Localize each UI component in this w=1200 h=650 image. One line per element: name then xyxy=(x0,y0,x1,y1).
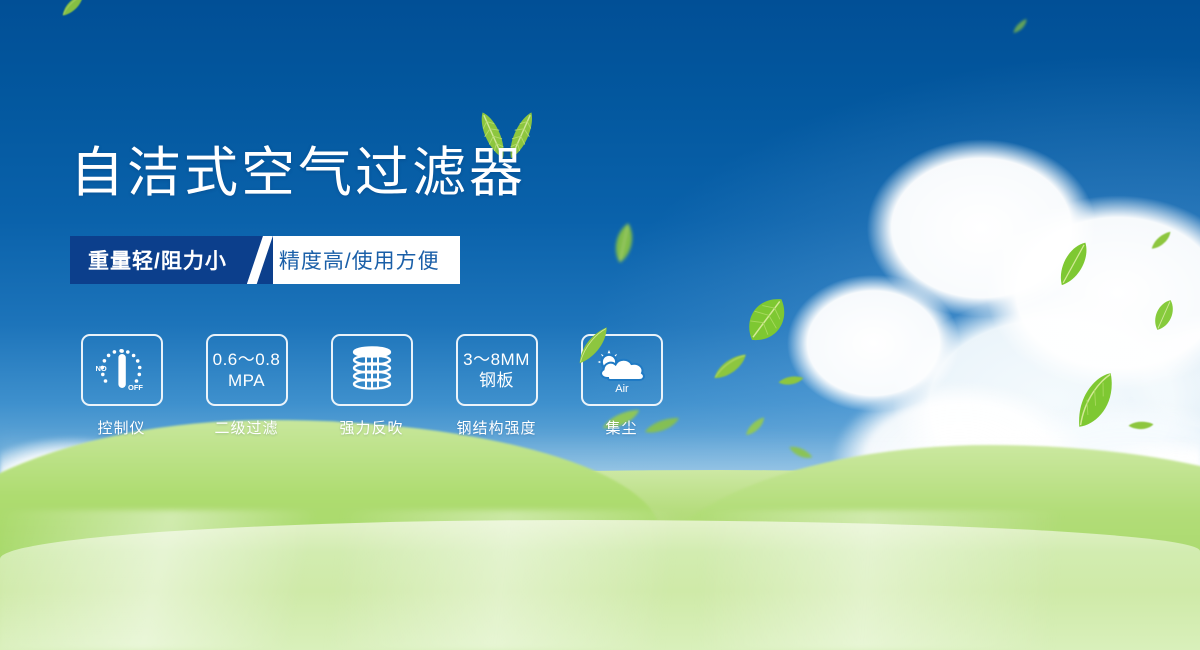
feature-item-control-dial[interactable]: NO OFF 控制仪 xyxy=(70,334,173,438)
feature-label: 强力反吹 xyxy=(339,417,403,438)
pressure-value-line2: MPA xyxy=(228,370,265,391)
dial-off-label: OFF xyxy=(128,383,143,392)
floating-leaf-icon xyxy=(1008,16,1031,36)
pressure-text-icon: 0.6〜0.8 MPA xyxy=(206,334,288,406)
filter-cartridge-glyph xyxy=(345,344,399,396)
subtitle-right-text: 精度高/使用方便 xyxy=(273,236,460,284)
feature-label: 钢结构强度 xyxy=(456,417,536,438)
feature-label: 控制仪 xyxy=(97,417,145,438)
floating-leaf-icon xyxy=(777,370,805,389)
air-label: Air xyxy=(615,383,629,395)
filter-cartridge-icon xyxy=(331,334,413,406)
floating-leaf-icon xyxy=(708,349,753,382)
grass-light-sheen xyxy=(0,510,1200,650)
steel-value-line1: 3〜8MM xyxy=(463,349,530,370)
page-title: 自洁式空气过滤器 xyxy=(70,142,526,204)
pressure-value-line1: 0.6〜0.8 xyxy=(213,349,281,370)
product-banner: 自洁式空气过滤器 重量轻/阻力小 精度高/使用方便 xyxy=(0,0,1200,650)
control-dial-icon: NO OFF xyxy=(81,334,163,406)
steel-value-line2: 钢板 xyxy=(479,370,514,391)
control-dial-glyph: NO OFF xyxy=(92,343,152,397)
feature-label: 集尘 xyxy=(605,417,637,438)
feature-label: 二级过滤 xyxy=(214,417,278,438)
feature-item-steel-strength[interactable]: 3〜8MM 钢板 钢结构强度 xyxy=(445,334,548,438)
floating-leaf-icon xyxy=(608,220,640,266)
subtitle-bar: 重量轻/阻力小 精度高/使用方便 xyxy=(70,236,460,284)
feature-item-backblow[interactable]: 强力反吹 xyxy=(320,334,423,438)
feature-item-pressure[interactable]: 0.6〜0.8 MPA 二级过滤 xyxy=(195,334,298,438)
dial-on-label: NO xyxy=(95,364,106,373)
floating-leaf-icon xyxy=(56,0,91,20)
subtitle-left-text: 重量轻/阻力小 xyxy=(70,236,247,284)
subtitle-divider-slash xyxy=(247,236,273,284)
steel-plate-text-icon: 3〜8MM 钢板 xyxy=(456,334,538,406)
